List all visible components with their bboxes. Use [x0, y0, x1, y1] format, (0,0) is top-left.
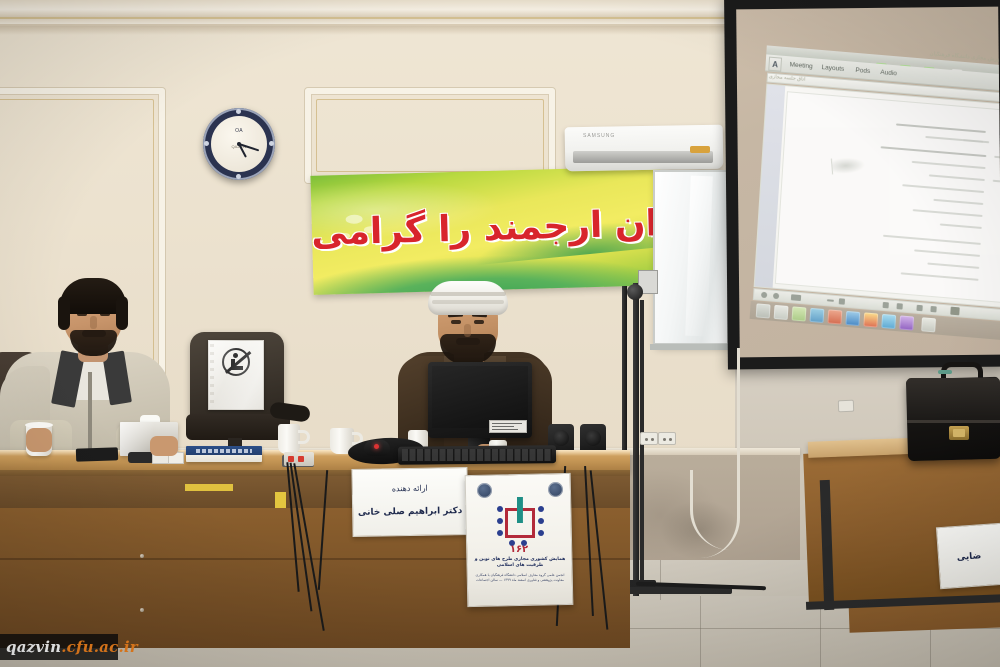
sleeve-plastic-glare	[208, 340, 264, 410]
speaker-cone-2	[585, 430, 601, 446]
cleric-white-turban	[428, 281, 508, 315]
menu-pods[interactable]: Pods	[855, 67, 870, 75]
poster-logo-calligraphy: ا	[503, 492, 537, 532]
document-text-line	[929, 174, 985, 180]
left-person-hair-side-2	[116, 296, 128, 330]
presenter-name-card: ارائه دهنده دکتر ابراهیم صلی خانی	[351, 467, 468, 537]
poster-logo-dot	[497, 530, 503, 536]
poster-logo-dot	[538, 518, 544, 524]
document-text-line	[881, 146, 987, 156]
document-seal-mark	[831, 157, 866, 175]
speaker-cone	[553, 430, 569, 446]
projection-screen-surface: سمینار آموزش مجازی دانشگاه فرهنگیان A Me…	[736, 7, 1000, 358]
document-text-line	[993, 180, 1000, 183]
maximize-icon[interactable]	[921, 317, 936, 332]
monitor-screen	[432, 366, 528, 428]
fit-page-icon[interactable]	[916, 305, 922, 311]
second-name-card: ضایی	[936, 523, 1000, 589]
briefcase-handle-tag	[938, 370, 952, 374]
whiteboard-adjust-knob	[627, 284, 643, 300]
turban-wrap-line-2	[432, 300, 504, 304]
crown-molding	[0, 0, 740, 26]
tile-grout-line	[660, 560, 661, 600]
document-text-line	[940, 223, 982, 228]
socket-hole	[645, 438, 648, 441]
clock-marker	[236, 174, 241, 179]
edge-chromium-icon[interactable]	[845, 311, 860, 326]
tile-grout-line	[700, 596, 701, 667]
wall-molding-panel-right	[305, 88, 555, 183]
welcome-banner: ان ارجمند را گرامی می داریم	[310, 166, 663, 295]
power-switch[interactable]	[288, 456, 294, 462]
car-keys	[128, 452, 154, 463]
keyboard-keys	[402, 449, 552, 461]
socket-hole	[663, 438, 666, 441]
briefcase-lock-plate	[953, 429, 965, 437]
document-text-line	[883, 235, 981, 245]
document-text-line	[901, 272, 979, 280]
fit-width-icon[interactable]	[930, 306, 936, 312]
mobile-phone[interactable]	[76, 447, 118, 461]
organization-seal-icon	[548, 482, 563, 497]
zoom-plus-icon[interactable]	[839, 298, 845, 304]
document-text-line	[913, 209, 983, 216]
cleric-nose	[464, 324, 471, 337]
poster-logo-dot	[497, 518, 503, 524]
document-text-line	[902, 184, 984, 192]
ceramic-mug-1	[278, 424, 300, 454]
poster-logo-dot	[538, 506, 544, 512]
chrome-icon[interactable]	[863, 312, 878, 327]
edge-icon[interactable]	[774, 305, 789, 320]
left-person-hand-right	[150, 436, 178, 456]
clock-marker	[269, 141, 274, 146]
conference-room-photo: OA QAZVIN ان ارجمند را گرامی می داریم SA…	[0, 0, 1000, 667]
clock-center-pin	[237, 142, 241, 146]
wall-socket-3[interactable]	[838, 400, 854, 413]
document-text-line	[896, 123, 986, 132]
rotate-left-icon[interactable]	[883, 302, 889, 308]
university-seal-icon	[477, 483, 492, 498]
whiteboard-stand-post-2	[640, 300, 644, 590]
watermark-primary: qazvin	[6, 638, 61, 656]
crown-molding-shadow	[0, 26, 740, 35]
skype-icon[interactable]	[881, 314, 896, 329]
wall-socket[interactable]	[640, 432, 658, 445]
document-text-line	[994, 156, 1000, 159]
air-conditioner-indicator	[690, 146, 710, 153]
shared-document	[775, 91, 1000, 303]
adobe-connect-logo-icon: A	[768, 57, 782, 72]
poster-body-text: انجمن علمی گروه معارف اسلامی دانشگاه فره…	[474, 573, 566, 583]
file-explorer-icon[interactable]	[792, 306, 807, 321]
cleric-eye-right	[474, 320, 484, 324]
book-title-text	[196, 449, 252, 453]
fullscreen-icon[interactable]	[950, 307, 959, 316]
table-screw	[140, 554, 144, 558]
briefcase-flap-edge	[907, 420, 1000, 423]
clock-marker	[236, 109, 241, 114]
whiteboard-stand-post	[633, 283, 639, 596]
briefcase-flap	[907, 378, 1000, 422]
monitor-sticker-text	[492, 423, 524, 431]
table-yellow-tag	[185, 484, 233, 491]
wall-clock: OA QAZVIN	[203, 108, 275, 180]
store-icon[interactable]	[810, 308, 825, 323]
poster-logo-dot	[497, 506, 503, 512]
banner-text: ان ارجمند را گرامی می داریم	[317, 190, 659, 267]
cleric-mustache	[456, 338, 480, 345]
empty-chair-seat[interactable]	[186, 414, 290, 440]
rotate-right-icon[interactable]	[897, 303, 903, 309]
power-switch-2[interactable]	[298, 456, 304, 462]
presenter-name-label: دکتر ابراهیم صلی خانی	[353, 506, 467, 518]
presenter-role-label: ارائه دهنده	[353, 483, 467, 494]
poster-number: ۱۶۲	[493, 544, 545, 555]
firefox-icon[interactable]	[827, 309, 842, 324]
projected-adobe-connect-window: سمینار آموزش مجازی دانشگاه فرهنگیان A Me…	[750, 45, 1000, 331]
second-name-card-label: ضایی	[939, 550, 1000, 564]
left-person-hand-left	[26, 428, 52, 452]
poster-logo-dot	[538, 530, 544, 536]
socket-hole	[669, 438, 672, 441]
left-person-mustache	[82, 330, 106, 337]
left-person-hair-side	[58, 296, 70, 330]
document-text-line	[914, 249, 980, 256]
sticker-line	[492, 426, 514, 427]
sticker-line	[492, 429, 518, 430]
socket-hole	[651, 438, 654, 441]
left-person-nose	[90, 316, 97, 329]
clock-brand-label: OA	[229, 128, 249, 135]
crown-molding-gold-line	[0, 17, 740, 19]
document-text-line	[912, 161, 986, 169]
wall-socket-2[interactable]	[658, 432, 676, 445]
air-conditioner-brand: SAMSUNG	[583, 133, 615, 139]
turban-wrap-line	[430, 292, 506, 296]
page-field-icon[interactable]	[791, 294, 801, 301]
clock-marker	[204, 141, 209, 146]
mouse-led-icon	[374, 444, 379, 449]
poster-title: همایش کشوری مجازی طرح های نوین و ظرفیت ه…	[474, 557, 566, 569]
document-text-line	[927, 263, 979, 269]
sticker-line	[492, 423, 522, 424]
document-text-line	[933, 199, 983, 205]
table-screw	[140, 608, 144, 612]
document-text-line	[963, 139, 989, 143]
cleric-eye-left	[451, 320, 461, 324]
site-watermark: qazvin.cfu.ac.ir	[0, 634, 118, 660]
viber-icon[interactable]	[899, 315, 914, 330]
windows-start-icon[interactable]	[756, 303, 771, 318]
menu-audio[interactable]: Audio	[880, 69, 897, 77]
watermark-secondary: .cfu.ac.ir	[61, 638, 138, 656]
